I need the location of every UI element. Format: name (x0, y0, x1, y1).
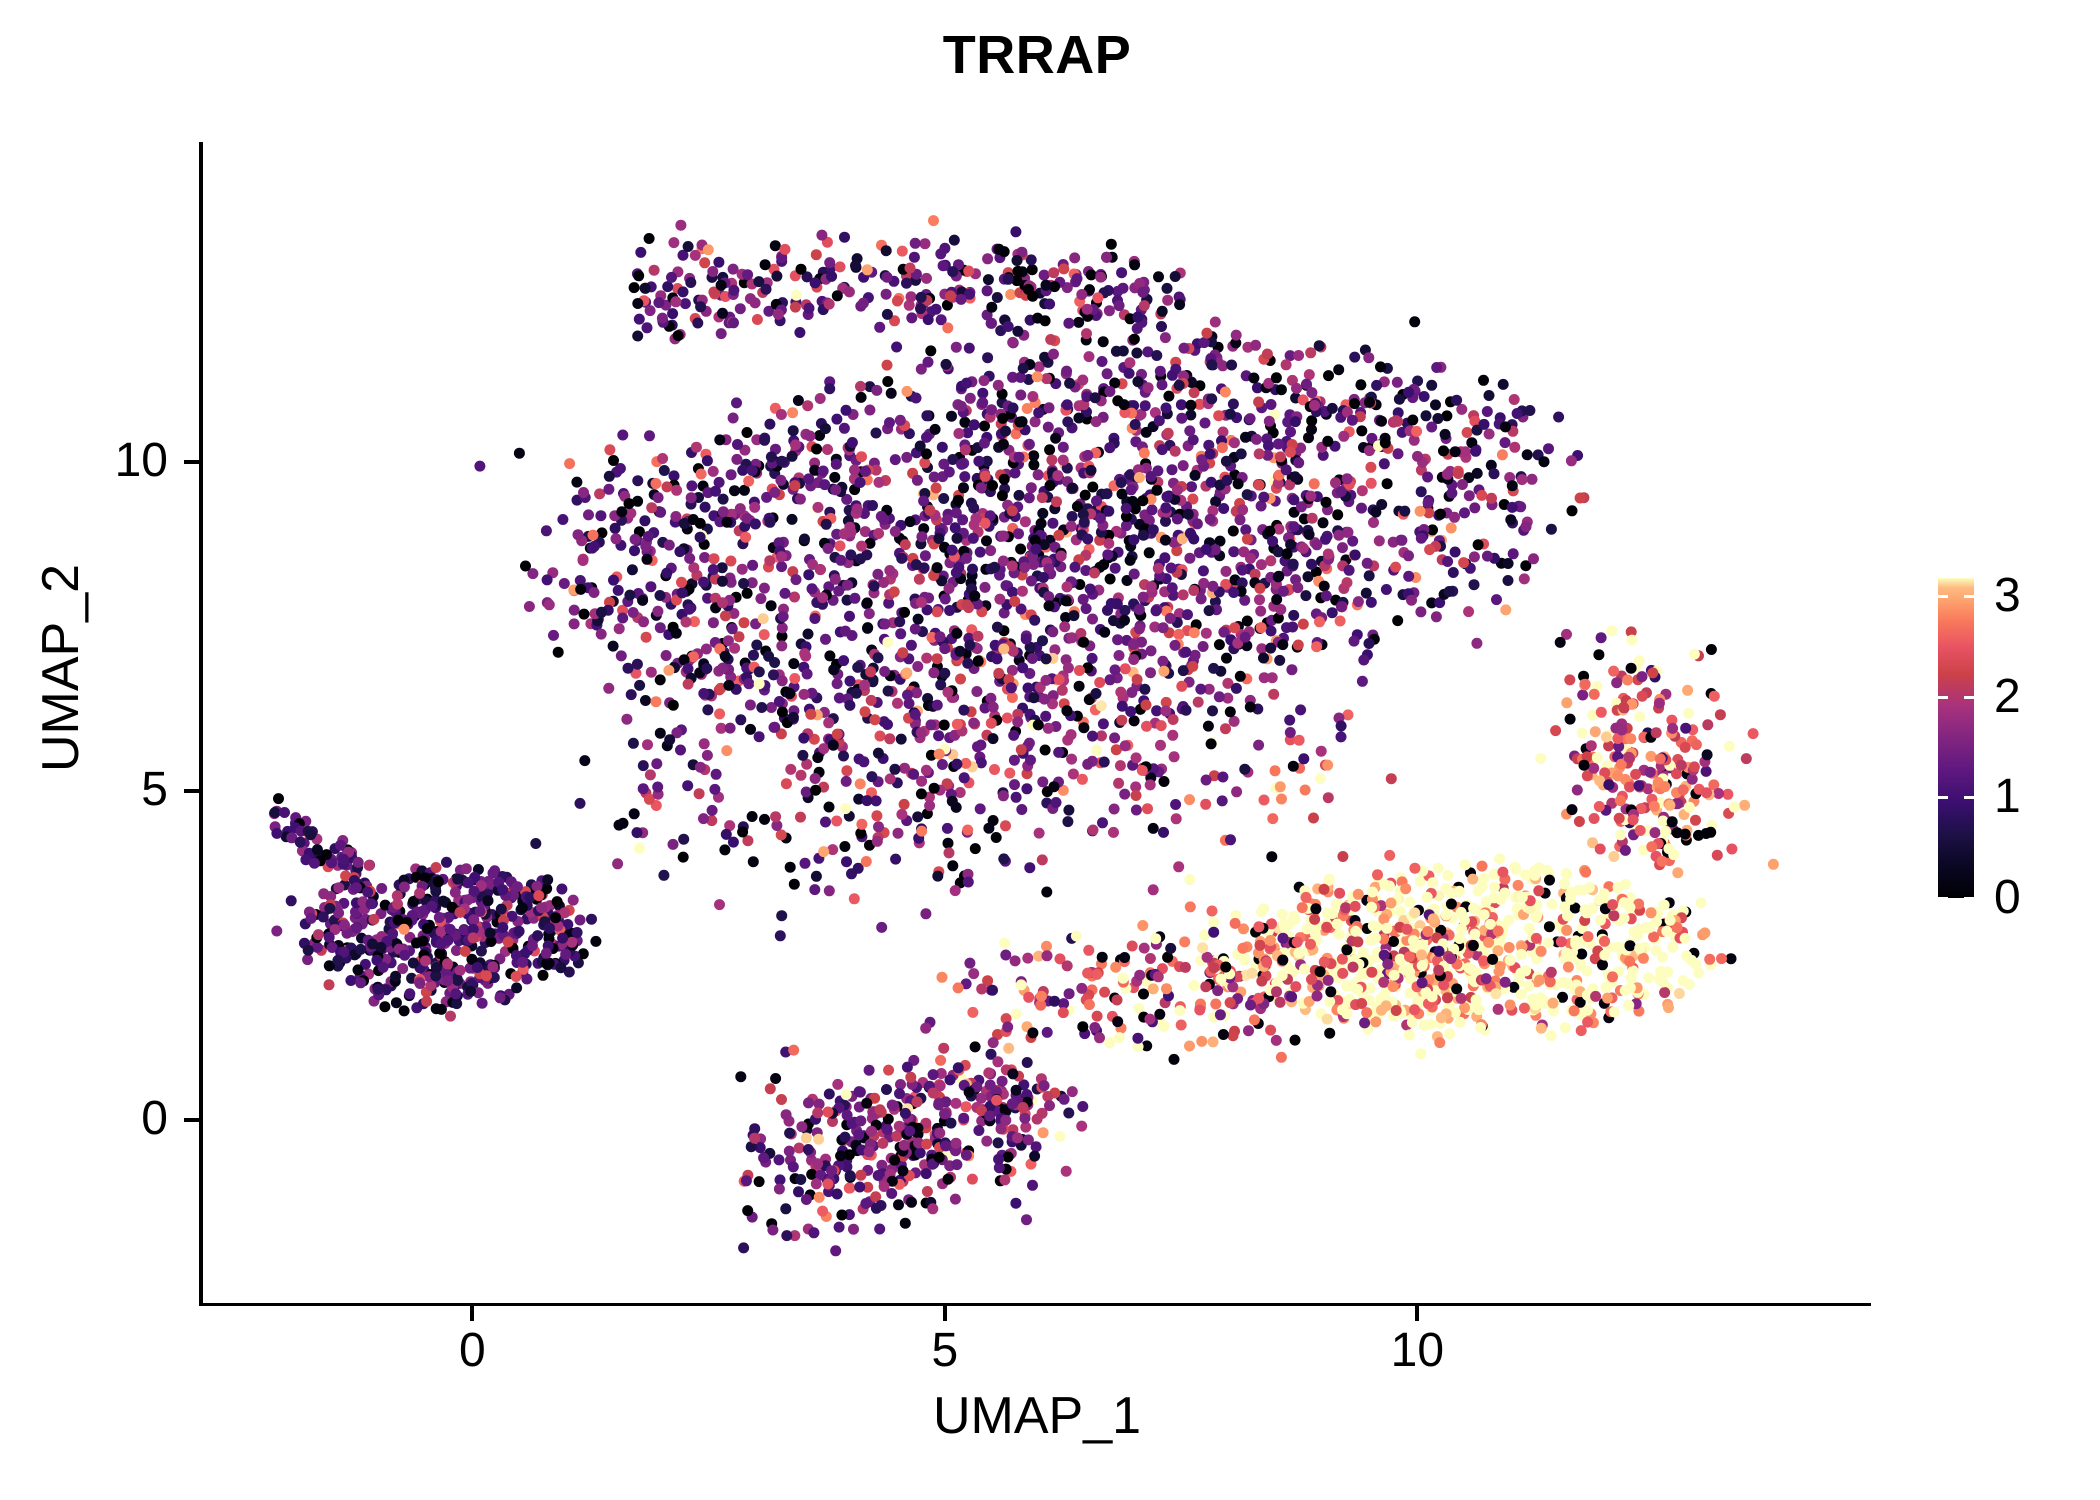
scatter-point (899, 1140, 910, 1151)
scatter-point (514, 448, 525, 459)
scatter-point (1221, 456, 1232, 467)
scatter-point (1236, 448, 1247, 459)
scatter-point (1256, 559, 1267, 570)
scatter-point (1580, 904, 1591, 915)
scatter-point (908, 769, 919, 780)
scatter-point (1662, 966, 1673, 977)
scatter-point (824, 299, 835, 310)
scatter-point (1416, 533, 1427, 544)
scatter-point (945, 290, 956, 301)
scatter-point (1291, 383, 1302, 394)
scatter-point (1066, 632, 1077, 643)
scatter-point (882, 272, 893, 283)
scatter-point (637, 595, 648, 606)
scatter-point (1561, 925, 1572, 936)
scatter-point (1378, 914, 1389, 925)
scatter-point (946, 1118, 957, 1129)
scatter-point (640, 283, 651, 294)
scatter-point (1691, 739, 1702, 750)
scatter-point (1409, 863, 1420, 874)
scatter-point (818, 846, 829, 857)
scatter-point (1580, 867, 1591, 878)
scatter-point (955, 674, 966, 685)
scatter-point (511, 982, 522, 993)
scatter-point (608, 641, 619, 652)
scatter-point (1012, 1132, 1023, 1143)
scatter-point (856, 392, 867, 403)
scatter-point (951, 567, 962, 578)
scatter-point (749, 1133, 760, 1144)
scatter-point (1258, 492, 1269, 503)
scatter-point (1623, 1000, 1634, 1011)
scatter-point (1201, 544, 1212, 555)
scatter-point (912, 811, 923, 822)
scatter-point (916, 597, 927, 608)
scatter-point (956, 459, 967, 470)
scatter-point (788, 658, 799, 669)
scatter-point (873, 748, 884, 759)
scatter-point (573, 529, 584, 540)
scatter-point (1366, 902, 1377, 913)
scatter-point (899, 763, 910, 774)
scatter-point (651, 696, 662, 707)
scatter-point (888, 1100, 899, 1111)
scatter-point (1097, 356, 1108, 367)
scatter-point (379, 1001, 390, 1012)
scatter-point (774, 1184, 785, 1195)
scatter-point (1450, 446, 1461, 457)
scatter-point (1512, 408, 1523, 419)
scatter-point (1110, 563, 1121, 574)
scatter-point (1007, 692, 1018, 703)
scatter-point (789, 480, 800, 491)
scatter-point (1293, 350, 1304, 361)
scatter-point (1634, 711, 1645, 722)
scatter-point (942, 823, 953, 834)
scatter-point (1624, 956, 1635, 967)
scatter-point (714, 708, 725, 719)
scatter-point (477, 998, 488, 1009)
scatter-point (1446, 523, 1457, 534)
scatter-point (1472, 468, 1483, 479)
scatter-point (387, 928, 398, 939)
scatter-point (1162, 283, 1173, 294)
scatter-point (714, 899, 725, 910)
scatter-point (309, 858, 320, 869)
scatter-point (799, 534, 810, 545)
scatter-point (1256, 622, 1267, 633)
scatter-point (790, 439, 801, 450)
scatter-point (766, 451, 777, 462)
scatter-point (1141, 721, 1152, 732)
scatter-point (442, 975, 453, 986)
scatter-point (1446, 899, 1457, 910)
scatter-point (1363, 352, 1374, 363)
scatter-point (434, 948, 445, 959)
scatter-point (999, 474, 1010, 485)
scatter-point (1381, 584, 1392, 595)
scatter-point (909, 252, 920, 263)
scatter-point (839, 423, 850, 434)
scatter-point (678, 852, 689, 863)
scatter-point (1106, 598, 1117, 609)
scatter-point (564, 458, 575, 469)
scatter-point (1016, 744, 1027, 755)
scatter-point (788, 1161, 799, 1172)
scatter-point (758, 1152, 769, 1163)
scatter-point (862, 622, 873, 633)
scatter-point (775, 930, 786, 941)
scatter-point (578, 555, 589, 566)
scatter-point (1130, 419, 1141, 430)
scatter-point (1336, 721, 1347, 732)
scatter-point (754, 678, 765, 689)
scatter-point (688, 514, 699, 525)
scatter-point (1641, 922, 1652, 933)
scatter-point (616, 650, 627, 661)
scatter-point (934, 1152, 945, 1163)
scatter-point (1062, 399, 1073, 410)
scatter-point (1527, 474, 1538, 485)
scatter-point (1245, 413, 1256, 424)
scatter-point (1171, 813, 1182, 824)
scatter-point (970, 513, 981, 524)
scatter-point (642, 322, 653, 333)
scatter-point (1128, 654, 1139, 665)
scatter-point (861, 1098, 872, 1109)
scatter-point (1200, 418, 1211, 429)
scatter-point (638, 616, 649, 627)
scatter-point (1615, 795, 1626, 806)
scatter-point (1565, 888, 1576, 899)
scatter-point (651, 758, 662, 769)
scatter-point (1000, 1115, 1011, 1126)
scatter-point (1048, 349, 1059, 360)
scatter-point (1548, 998, 1559, 1009)
scatter-point (992, 1056, 1003, 1067)
scatter-point (1599, 950, 1610, 961)
scatter-point (691, 442, 702, 453)
scatter-point (1081, 603, 1092, 614)
scatter-point (533, 890, 544, 901)
scatter-point (653, 492, 664, 503)
scatter-point (824, 1089, 835, 1100)
scatter-point (1125, 706, 1136, 717)
scatter-point (1092, 292, 1103, 303)
scatter-point (1334, 888, 1345, 899)
scatter-point (932, 871, 943, 882)
scatter-point (1021, 783, 1032, 794)
scatter-point (1036, 518, 1047, 529)
scatter-point (835, 1150, 846, 1161)
scatter-point (664, 734, 675, 745)
scatter-point (710, 486, 721, 497)
scatter-point (944, 605, 955, 616)
scatter-point (905, 263, 916, 274)
scatter-point (1004, 768, 1015, 779)
scatter-point (1137, 287, 1148, 298)
scatter-point (1271, 372, 1282, 383)
scatter-point (1027, 391, 1038, 402)
scatter-point (1231, 786, 1242, 797)
scatter-point (1522, 449, 1533, 460)
scatter-point (1681, 950, 1692, 961)
scatter-point (785, 862, 796, 873)
scatter-point (850, 260, 861, 271)
scatter-point (923, 314, 934, 325)
scatter-point (1156, 321, 1167, 332)
scatter-point (842, 1110, 853, 1121)
scatter-point (832, 729, 843, 740)
scatter-point (1407, 1017, 1418, 1028)
scatter-point (1500, 437, 1511, 448)
scatter-point (575, 915, 586, 926)
scatter-point (882, 360, 893, 371)
scatter-point (1672, 827, 1683, 838)
scatter-point (1500, 604, 1511, 615)
scatter-point (1477, 861, 1488, 872)
scatter-point (943, 838, 954, 849)
scatter-point (1087, 482, 1098, 493)
scatter-point (1699, 927, 1710, 938)
scatter-point (1596, 707, 1607, 718)
scatter-point (1347, 415, 1358, 426)
scatter-point (958, 482, 969, 493)
scatter-point (460, 946, 471, 957)
scatter-point (1106, 239, 1117, 250)
scatter-point (1298, 753, 1309, 764)
scatter-point (884, 565, 895, 576)
scatter-point (1574, 816, 1585, 827)
scatter-point (794, 1143, 805, 1154)
scatter-point (1323, 549, 1334, 560)
scatter-point (1615, 829, 1626, 840)
scatter-point (1102, 488, 1113, 499)
scatter-point (536, 902, 547, 913)
scatter-point (877, 1138, 888, 1149)
scatter-point (1546, 524, 1557, 535)
scatter-point (901, 667, 912, 678)
scatter-point (879, 666, 890, 677)
scatter-point (1016, 804, 1027, 815)
scatter-point (488, 868, 499, 879)
scatter-point (1148, 524, 1159, 535)
scatter-point (728, 413, 739, 424)
scatter-point (1619, 913, 1630, 924)
scatter-point (295, 837, 306, 848)
scatter-point (1254, 480, 1265, 491)
scatter-point (1577, 728, 1588, 739)
scatter-point (1078, 637, 1089, 648)
scatter-point (1579, 760, 1590, 771)
scatter-point (1228, 526, 1239, 537)
scatter-point (701, 663, 712, 674)
scatter-point (726, 469, 737, 480)
scatter-point (835, 261, 846, 272)
scatter-point (823, 1107, 834, 1118)
scatter-point (627, 564, 638, 575)
scatter-point (1146, 471, 1157, 482)
scatter-point (578, 487, 589, 498)
scatter-point (984, 1110, 995, 1121)
scatter-point (735, 303, 746, 314)
scatter-point (1242, 489, 1253, 500)
scatter-point (1459, 915, 1470, 926)
scatter-point (1040, 315, 1051, 326)
scatter-point (1500, 421, 1511, 432)
scatter-point (927, 1203, 938, 1214)
scatter-point (809, 884, 820, 895)
scatter-point (1275, 604, 1286, 615)
scatter-point (1454, 886, 1465, 897)
scatter-point (1145, 667, 1156, 678)
scatter-point (483, 895, 494, 906)
scatter-point (1409, 316, 1420, 327)
scatter-point (1625, 982, 1636, 993)
scatter-point (1033, 719, 1044, 730)
scatter-point (303, 945, 314, 956)
scatter-point (1667, 723, 1678, 734)
scatter-point (1566, 455, 1577, 466)
scatter-point (841, 776, 852, 787)
scatter-point (1089, 568, 1100, 579)
scatter-point (737, 827, 748, 838)
scatter-point (981, 535, 992, 546)
scatter-point (716, 328, 727, 339)
scatter-point (759, 435, 770, 446)
scatter-point (1070, 562, 1081, 573)
scatter-point (1064, 378, 1075, 389)
scatter-point (1237, 504, 1248, 515)
scatter-point (1104, 305, 1115, 316)
scatter-point (1160, 502, 1171, 513)
scatter-point (785, 764, 796, 775)
scatter-point (1082, 759, 1093, 770)
scatter-point (1470, 446, 1481, 457)
scatter-point (608, 575, 619, 586)
scatter-point (925, 345, 936, 356)
scatter-point (777, 622, 788, 633)
scatter-point (943, 1174, 954, 1185)
scatter-point (629, 808, 640, 819)
scatter-point (1361, 588, 1372, 599)
scatter-point (1077, 1101, 1088, 1112)
scatter-point (1302, 923, 1313, 934)
scatter-point (1457, 479, 1468, 490)
scatter-point (1392, 615, 1403, 626)
scatter-point (752, 314, 763, 325)
scatter-point (929, 472, 940, 483)
scatter-point (1091, 416, 1102, 427)
scatter-point (1116, 715, 1127, 726)
scatter-point (613, 585, 624, 596)
scatter-point (1646, 841, 1657, 852)
scatter-point (1253, 740, 1264, 751)
scatter-point (812, 1107, 823, 1118)
scatter-point (1022, 953, 1033, 964)
scatter-point (569, 605, 580, 616)
scatter-point (764, 555, 775, 566)
scatter-point (1126, 484, 1137, 495)
scatter-point (1626, 635, 1637, 646)
scatter-point (1309, 400, 1320, 411)
scatter-point (882, 309, 893, 320)
scatter-point (968, 533, 979, 544)
scatter-point (1063, 805, 1074, 816)
scatter-point (1039, 694, 1050, 705)
scatter-point (1157, 306, 1168, 317)
scatter-point (1660, 826, 1671, 837)
scatter-point (1147, 504, 1158, 515)
scatter-point (1569, 1005, 1580, 1016)
scatter-point (1217, 772, 1228, 783)
scatter-point (1028, 692, 1039, 703)
scatter-point (1063, 318, 1074, 329)
scatter-point (686, 480, 697, 491)
scatter-point (878, 514, 889, 525)
scatter-point (1079, 517, 1090, 528)
scatter-point (956, 294, 967, 305)
scatter-point (993, 1154, 1004, 1165)
scatter-point (1069, 252, 1080, 263)
scatter-point (1081, 328, 1092, 339)
scatter-point (1027, 653, 1038, 664)
scatter-point (1267, 536, 1278, 547)
scatter-point (840, 803, 851, 814)
scatter-point (777, 707, 788, 718)
scatter-point (621, 714, 632, 725)
scatter-point (915, 303, 926, 314)
scatter-point (1142, 803, 1153, 814)
scatter-point (1063, 1108, 1074, 1119)
scatter-point (1053, 530, 1064, 541)
scatter-point (1045, 334, 1056, 345)
scatter-point (575, 798, 586, 809)
scatter-point (1084, 351, 1095, 362)
scatter-point (420, 955, 431, 966)
scatter-point (983, 274, 994, 285)
scatter-point (1250, 340, 1261, 351)
scatter-point (366, 898, 377, 909)
scatter-point (1612, 770, 1623, 781)
scatter-point (769, 487, 780, 498)
scatter-point (1248, 373, 1259, 384)
scatter-point (1509, 394, 1520, 405)
scatter-point (1726, 953, 1737, 964)
scatter-point (851, 688, 862, 699)
scatter-point (1293, 457, 1304, 468)
scatter-point (1403, 387, 1414, 398)
scatter-point (1309, 478, 1320, 489)
scatter-point (646, 667, 657, 678)
scatter-point (937, 442, 948, 453)
scatter-point (1634, 780, 1645, 791)
scatter-point (1586, 740, 1597, 751)
scatter-point (1379, 458, 1390, 469)
scatter-point (1038, 572, 1049, 583)
scatter-point (937, 759, 948, 770)
scatter-point (1145, 779, 1156, 790)
scatter-point (1285, 447, 1296, 458)
scatter-point (767, 1225, 778, 1236)
scatter-point (373, 984, 384, 995)
scatter-point (811, 871, 822, 882)
scatter-point (750, 519, 761, 530)
scatter-point (1608, 851, 1619, 862)
scatter-point (823, 717, 834, 728)
scatter-point (1074, 665, 1085, 676)
scatter-point (1239, 764, 1250, 775)
